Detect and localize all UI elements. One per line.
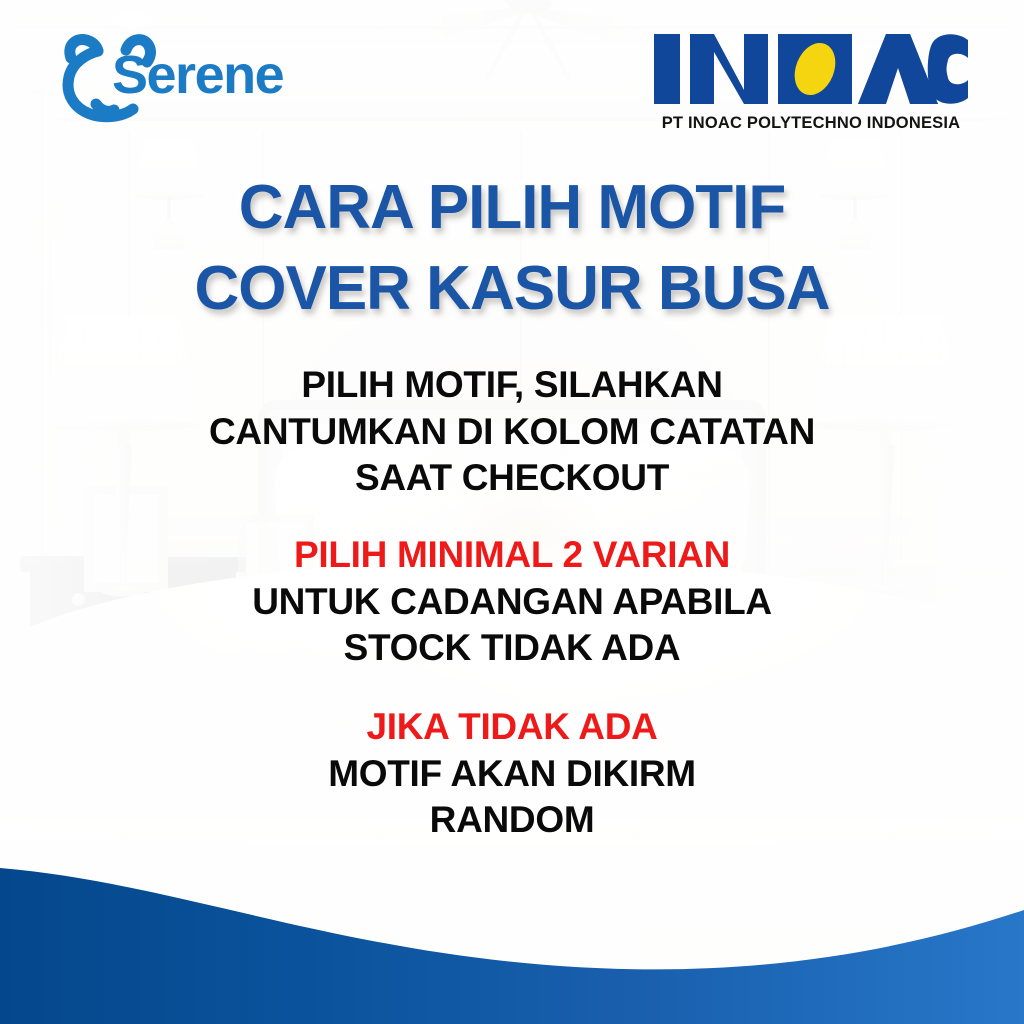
instruction-line: UNTUK CADANGAN APABILA xyxy=(0,579,1024,626)
inoac-subtitle: PT INOAC POLYTECHNO INDONESIA xyxy=(652,114,970,133)
serene-wordmark: Serene xyxy=(112,48,283,102)
headline-line-1: CARA PILIH MOTIF xyxy=(0,168,1024,249)
wave-shape xyxy=(0,868,1024,1024)
inoac-logo[interactable]: PT INOAC POLYTECHNO INDONESIA xyxy=(652,30,970,134)
instruction-block-3: JIKA TIDAK ADA MOTIF AKAN DIKIRM RANDOM xyxy=(0,704,1024,844)
instruction-block-2: PILIH MINIMAL 2 VARIAN UNTUK CADANGAN AP… xyxy=(0,532,1024,672)
instruction-line: MOTIF AKAN DIKIRM xyxy=(0,751,1024,798)
instruction-line: RANDOM xyxy=(0,797,1024,844)
page-title: CARA PILIH MOTIF COVER KASUR BUSA xyxy=(0,168,1024,329)
instruction-line: SAAT CHECKOUT xyxy=(0,455,1024,502)
promo-poster: Serene PT INOAC POLYTECHNO INDONESIA CAR… xyxy=(0,0,1024,1024)
bottom-wave-decoration xyxy=(0,844,1024,1024)
instruction-line: STOCK TIDAK ADA xyxy=(0,625,1024,672)
instruction-line-emphasis: JIKA TIDAK ADA xyxy=(0,704,1024,751)
headline-line-2: COVER KASUR BUSA xyxy=(0,249,1024,330)
instruction-block-1: PILIH MOTIF, SILAHKAN CANTUMKAN DI KOLOM… xyxy=(0,362,1024,502)
instruction-line: CANTUMKAN DI KOLOM CATATAN xyxy=(0,409,1024,456)
instruction-line: PILIH MOTIF, SILAHKAN xyxy=(0,362,1024,409)
instruction-line-emphasis: PILIH MINIMAL 2 VARIAN xyxy=(0,532,1024,579)
inoac-wordmark-graphic xyxy=(652,30,970,108)
serene-logo[interactable]: Serene xyxy=(52,32,292,124)
